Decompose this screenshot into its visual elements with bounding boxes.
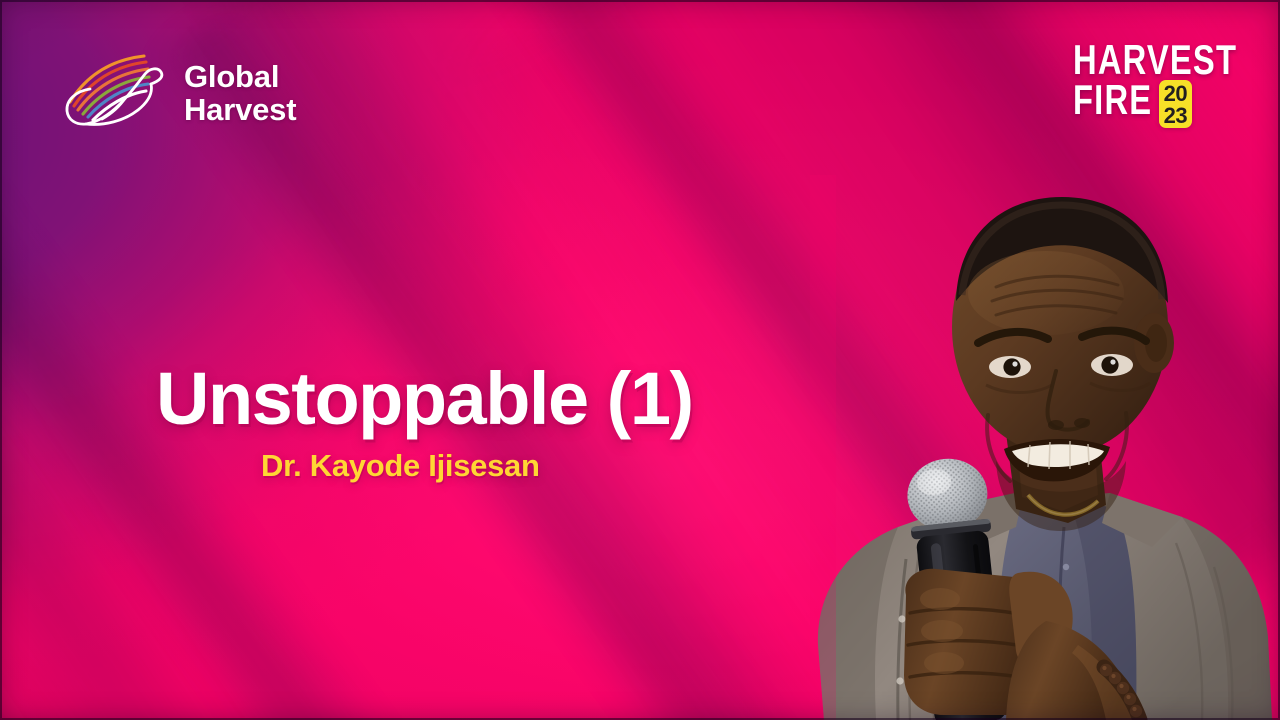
badge-line-fire-row: FIRE 20 23 — [1073, 80, 1185, 128]
badge-year-box: 20 23 — [1159, 80, 1192, 128]
title-block: Unstoppable (1) Dr. Kayode Ijisesan — [156, 362, 856, 484]
badge-line-fire: FIRE — [1073, 80, 1152, 119]
brand-logo: Global Harvest — [58, 46, 296, 142]
dove-logo-icon — [58, 46, 170, 142]
sermon-title-slide: Global Harvest HARVEST FIRE 20 23 Unstop… — [0, 0, 1280, 720]
brand-wordmark: Global Harvest — [184, 61, 296, 127]
badge-year-top: 20 — [1164, 83, 1187, 105]
speaker-photo — [810, 175, 1280, 720]
sermon-title: Unstoppable (1) — [156, 362, 856, 436]
event-badge: HARVEST FIRE 20 23 — [1073, 40, 1185, 128]
badge-year-bottom: 23 — [1164, 105, 1187, 127]
badge-line-harvest: HARVEST — [1073, 40, 1185, 79]
speaker-name: Dr. Kayode Ijisesan — [261, 448, 856, 484]
